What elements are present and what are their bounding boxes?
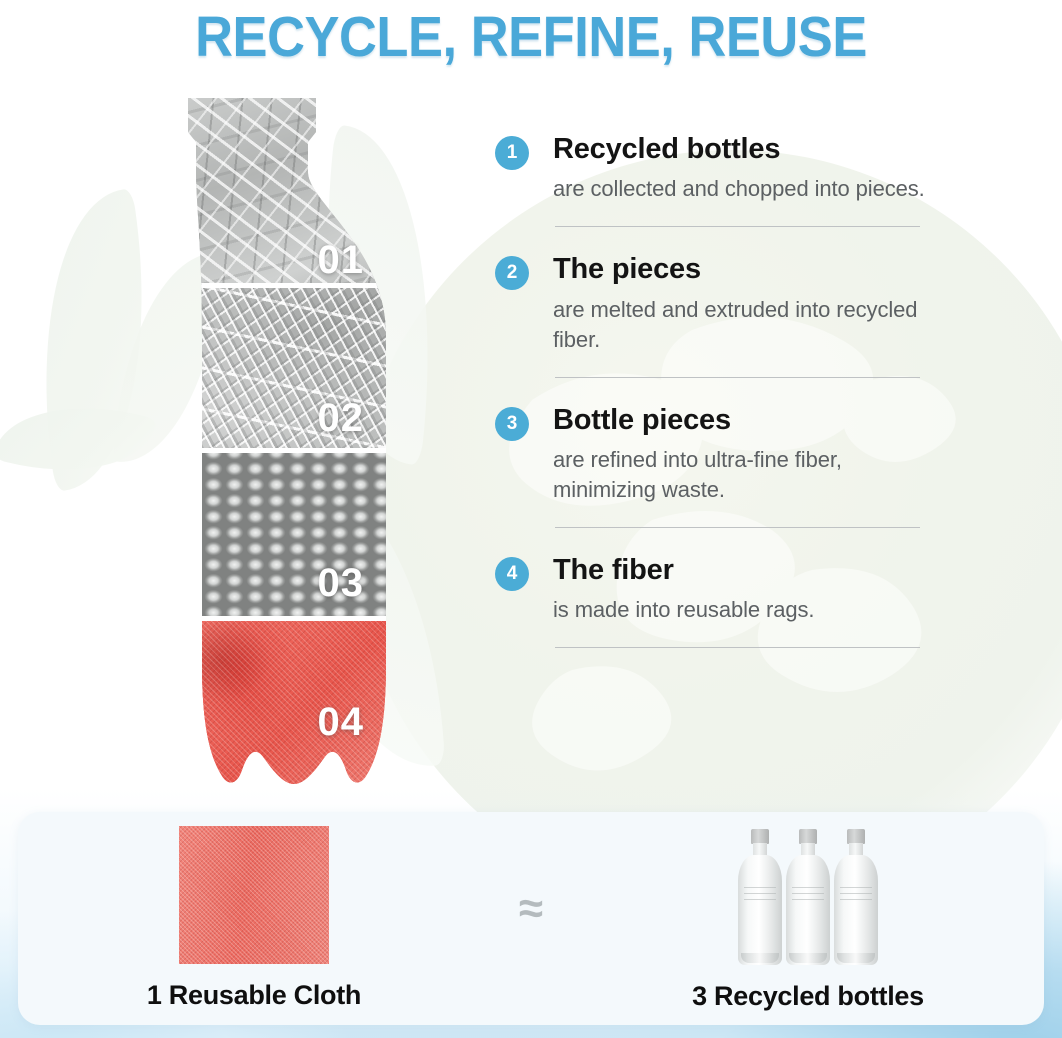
bottle-diagram: 01 02 03 04 xyxy=(118,98,386,788)
step-divider-3 xyxy=(555,527,920,528)
cloth-swatch-icon xyxy=(179,826,329,964)
mini-bottle-icon xyxy=(738,829,782,965)
step-item-1: 1 Recycled bottles are collected and cho… xyxy=(495,133,935,227)
recycling-infographic: RECYCLE, REFINE, REUSE 01 02 03 04 xyxy=(0,0,1062,1038)
step-badge-2: 2 xyxy=(495,256,529,290)
step-title-4: The fiber xyxy=(553,554,814,586)
segment-number-03: 03 xyxy=(318,561,365,606)
segment-divider-1 xyxy=(118,283,386,288)
step-badge-4: 4 xyxy=(495,557,529,591)
step-description-1: are collected and chopped into pieces. xyxy=(553,174,925,204)
comparison-right: 3 Recycled bottles xyxy=(618,825,998,1012)
comparison-left-label: 1 Reusable Cloth xyxy=(147,980,361,1011)
step-title-2: The pieces xyxy=(553,253,935,285)
comparison-card: 1 Reusable Cloth ≈ 3 Recycled bottles xyxy=(18,812,1044,1025)
comparison-left: 1 Reusable Cloth xyxy=(64,826,444,1011)
step-title-3: Bottle pieces xyxy=(553,404,935,436)
mini-bottle-icon xyxy=(786,829,830,965)
step-description-3: are refined into ultra-fine fiber, minim… xyxy=(553,445,935,505)
page-title: RECYCLE, REFINE, REUSE xyxy=(42,4,1019,70)
step-list: 1 Recycled bottles are collected and cho… xyxy=(495,133,935,648)
approximately-equal-icon: ≈ xyxy=(519,887,543,931)
segment-number-04: 04 xyxy=(318,700,365,745)
segment-number-02: 02 xyxy=(318,396,365,441)
comparison-right-label: 3 Recycled bottles xyxy=(692,981,924,1012)
step-divider-2 xyxy=(555,377,920,378)
step-badge-1: 1 xyxy=(495,136,529,170)
step-description-4: is made into reusable rags. xyxy=(553,595,814,625)
step-divider-4 xyxy=(555,647,920,648)
mini-bottle-icon xyxy=(834,829,878,965)
step-description-2: are melted and extruded into recycled fi… xyxy=(553,295,935,355)
segment-number-01: 01 xyxy=(318,238,365,283)
step-item-2: 2 The pieces are melted and extruded int… xyxy=(495,253,935,377)
segment-divider-2 xyxy=(118,448,386,453)
bottle-silhouette xyxy=(118,98,386,788)
bottle-group-icon xyxy=(738,825,878,965)
step-item-3: 3 Bottle pieces are refined into ultra-f… xyxy=(495,404,935,528)
segment-divider-3 xyxy=(118,616,386,621)
step-item-4: 4 The fiber is made into reusable rags. xyxy=(495,554,935,648)
step-badge-3: 3 xyxy=(495,407,529,441)
step-title-1: Recycled bottles xyxy=(553,133,925,165)
step-divider-1 xyxy=(555,226,920,227)
